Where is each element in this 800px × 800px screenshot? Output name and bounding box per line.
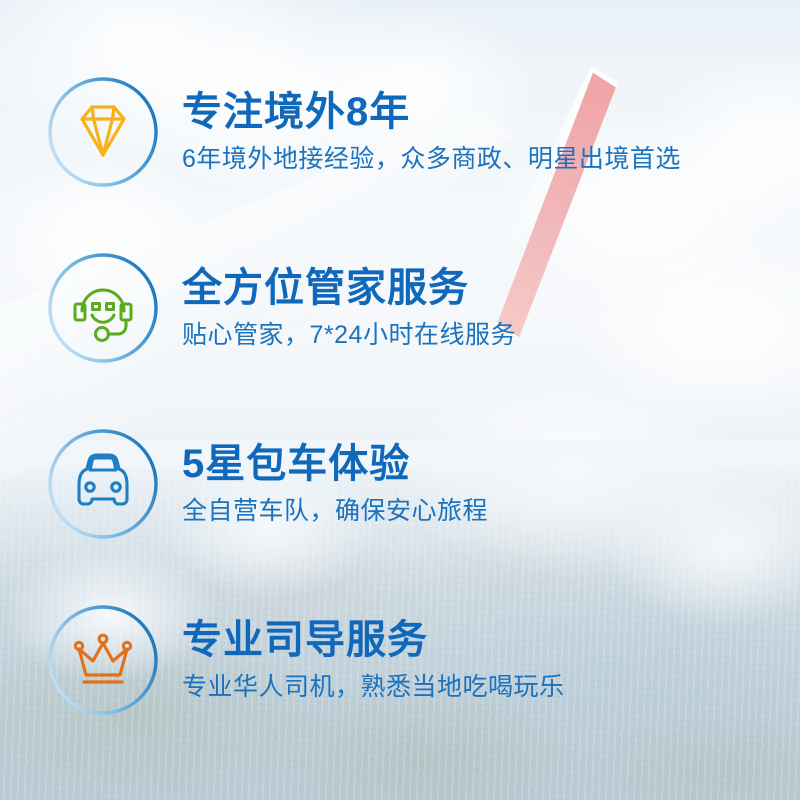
feature-subtitle: 贴心管家，7*24小时在线服务 — [182, 320, 516, 350]
feature-item-4: 专业司导服务 专业华人司机，熟悉当地吃喝玩乐 — [0, 590, 800, 730]
feature-icon-badge-4 — [46, 603, 160, 717]
feature-text-1: 专注境外8年 6年境外地接经验，众多商政、明星出境首选 — [182, 90, 681, 175]
crown-icon — [46, 603, 160, 717]
feature-subtitle: 全自营车队，确保安心旅程 — [182, 496, 488, 526]
feature-title: 专注境外8年 — [182, 90, 681, 135]
feature-title: 5星包车体验 — [182, 442, 488, 487]
headset-smiley-icon — [46, 251, 160, 365]
promo-banner: 专注境外8年 6年境外地接经验，众多商政、明星出境首选 — [0, 0, 800, 800]
diamond-icon — [46, 75, 160, 189]
feature-icon-badge-2 — [46, 251, 160, 365]
feature-icon-badge-1 — [46, 75, 160, 189]
feature-subtitle: 6年境外地接经验，众多商政、明星出境首选 — [182, 144, 681, 174]
feature-subtitle: 专业华人司机，熟悉当地吃喝玩乐 — [182, 672, 565, 702]
feature-title: 专业司导服务 — [182, 618, 565, 663]
feature-list: 专注境外8年 6年境外地接经验，众多商政、明星出境首选 — [0, 0, 800, 800]
feature-title: 全方位管家服务 — [182, 266, 516, 311]
feature-item-2: 全方位管家服务 贴心管家，7*24小时在线服务 — [0, 238, 800, 378]
feature-text-2: 全方位管家服务 贴心管家，7*24小时在线服务 — [182, 266, 516, 351]
feature-item-3: 5星包车体验 全自营车队，确保安心旅程 — [0, 414, 800, 554]
car-icon — [46, 427, 160, 541]
feature-text-3: 5星包车体验 全自营车队，确保安心旅程 — [182, 442, 488, 527]
feature-text-4: 专业司导服务 专业华人司机，熟悉当地吃喝玩乐 — [182, 618, 565, 703]
feature-icon-badge-3 — [46, 427, 160, 541]
feature-item-1: 专注境外8年 6年境外地接经验，众多商政、明星出境首选 — [0, 62, 800, 202]
